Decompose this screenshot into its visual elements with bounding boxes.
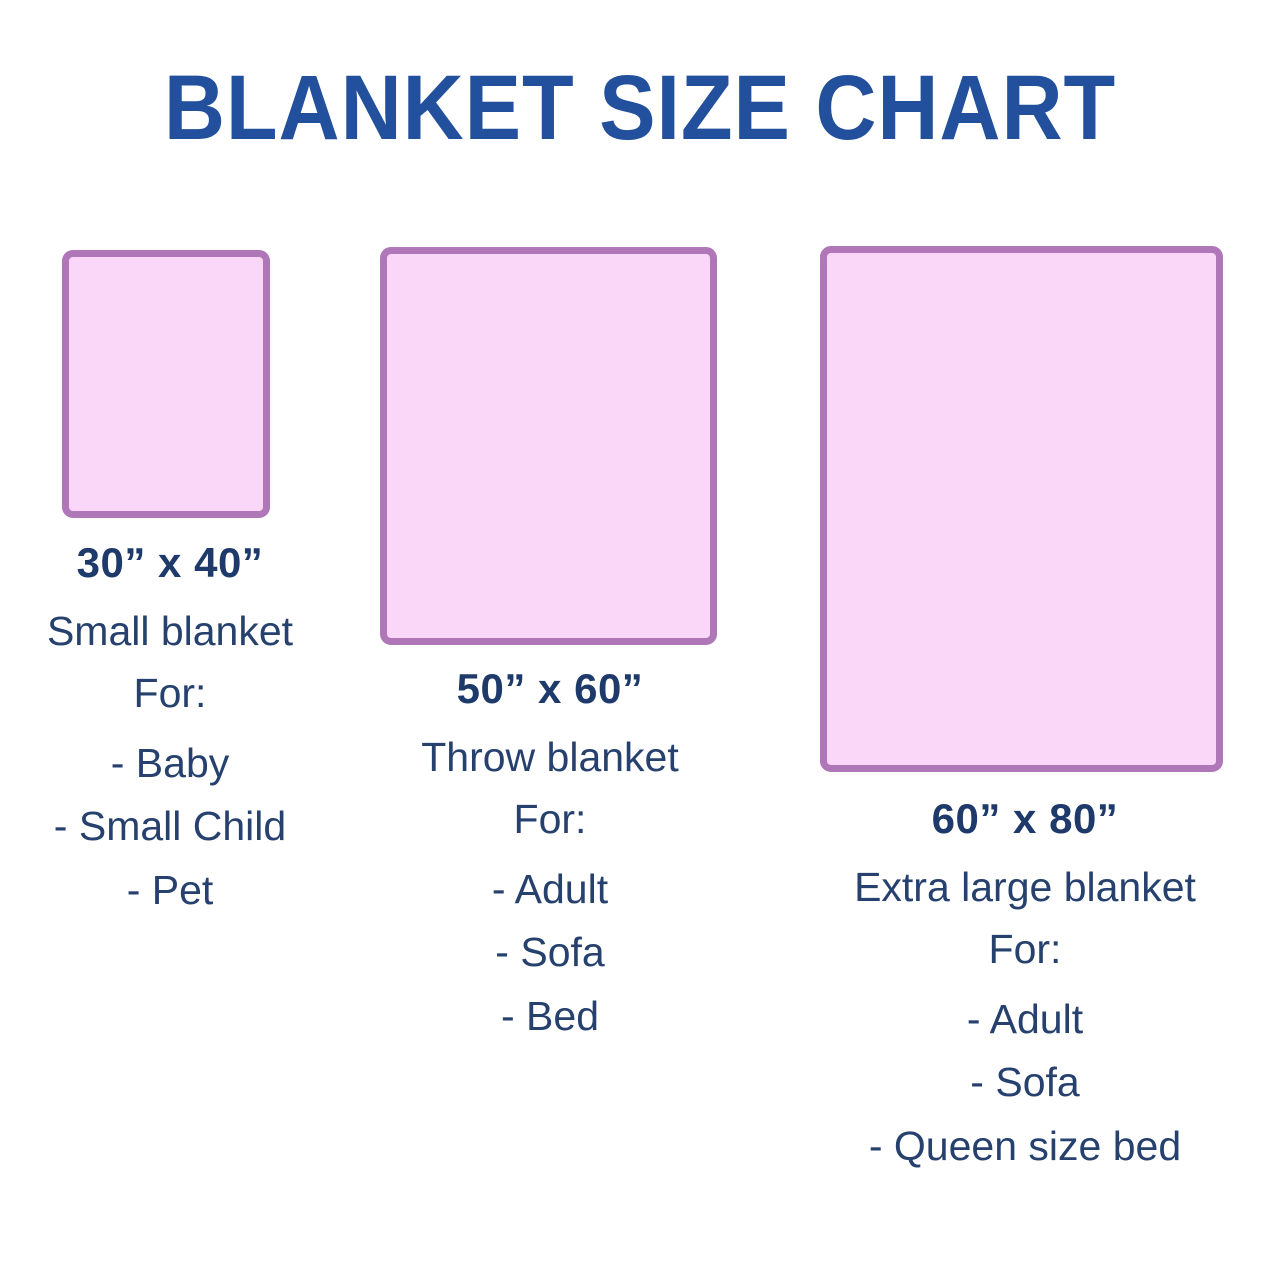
use-item-small-1: - Baby [0, 732, 340, 795]
use-item-throw-1: - Adult [350, 858, 750, 921]
use-item-small-2: - Small Child [0, 795, 340, 858]
use-item-extra-large-2: - Sofa [790, 1051, 1260, 1114]
caption-small-blanket: 30” x 40” Small blanket For: - Baby - Sm… [0, 540, 340, 922]
use-item-small-3: - Pet [0, 859, 340, 922]
use-item-throw-2: - Sofa [350, 921, 750, 984]
size-column-extra-large-blanket: 60” x 80” Extra large blanket For: - Adu… [790, 0, 1260, 1280]
caption-throw-blanket: 50” x 60” Throw blanket For: - Adult - S… [350, 666, 750, 1048]
blanket-name-small: Small blanket [0, 601, 340, 663]
for-label-extra-large: For: [790, 919, 1260, 981]
size-columns: 30” x 40” Small blanket For: - Baby - Sm… [0, 0, 1280, 1280]
size-column-small-blanket: 30” x 40” Small blanket For: - Baby - Sm… [0, 0, 340, 1280]
blanket-name-extra-large: Extra large blanket [790, 857, 1260, 919]
use-item-extra-large-3: - Queen size bed [790, 1115, 1260, 1178]
for-label-throw: For: [350, 789, 750, 851]
caption-extra-large-blanket: 60” x 80” Extra large blanket For: - Adu… [790, 796, 1260, 1178]
blanket-swatch-extra-large [820, 246, 1223, 772]
blanket-name-throw: Throw blanket [350, 727, 750, 789]
size-column-throw-blanket: 50” x 60” Throw blanket For: - Adult - S… [350, 0, 750, 1280]
dimension-label-extra-large: 60” x 80” [790, 796, 1260, 841]
blanket-swatch-throw [380, 247, 717, 645]
use-item-throw-3: - Bed [350, 985, 750, 1048]
dimension-label-small: 30” x 40” [0, 540, 340, 585]
for-label-small: For: [0, 663, 340, 725]
use-item-extra-large-1: - Adult [790, 988, 1260, 1051]
blanket-swatch-small [62, 250, 270, 518]
dimension-label-throw: 50” x 60” [350, 666, 750, 711]
